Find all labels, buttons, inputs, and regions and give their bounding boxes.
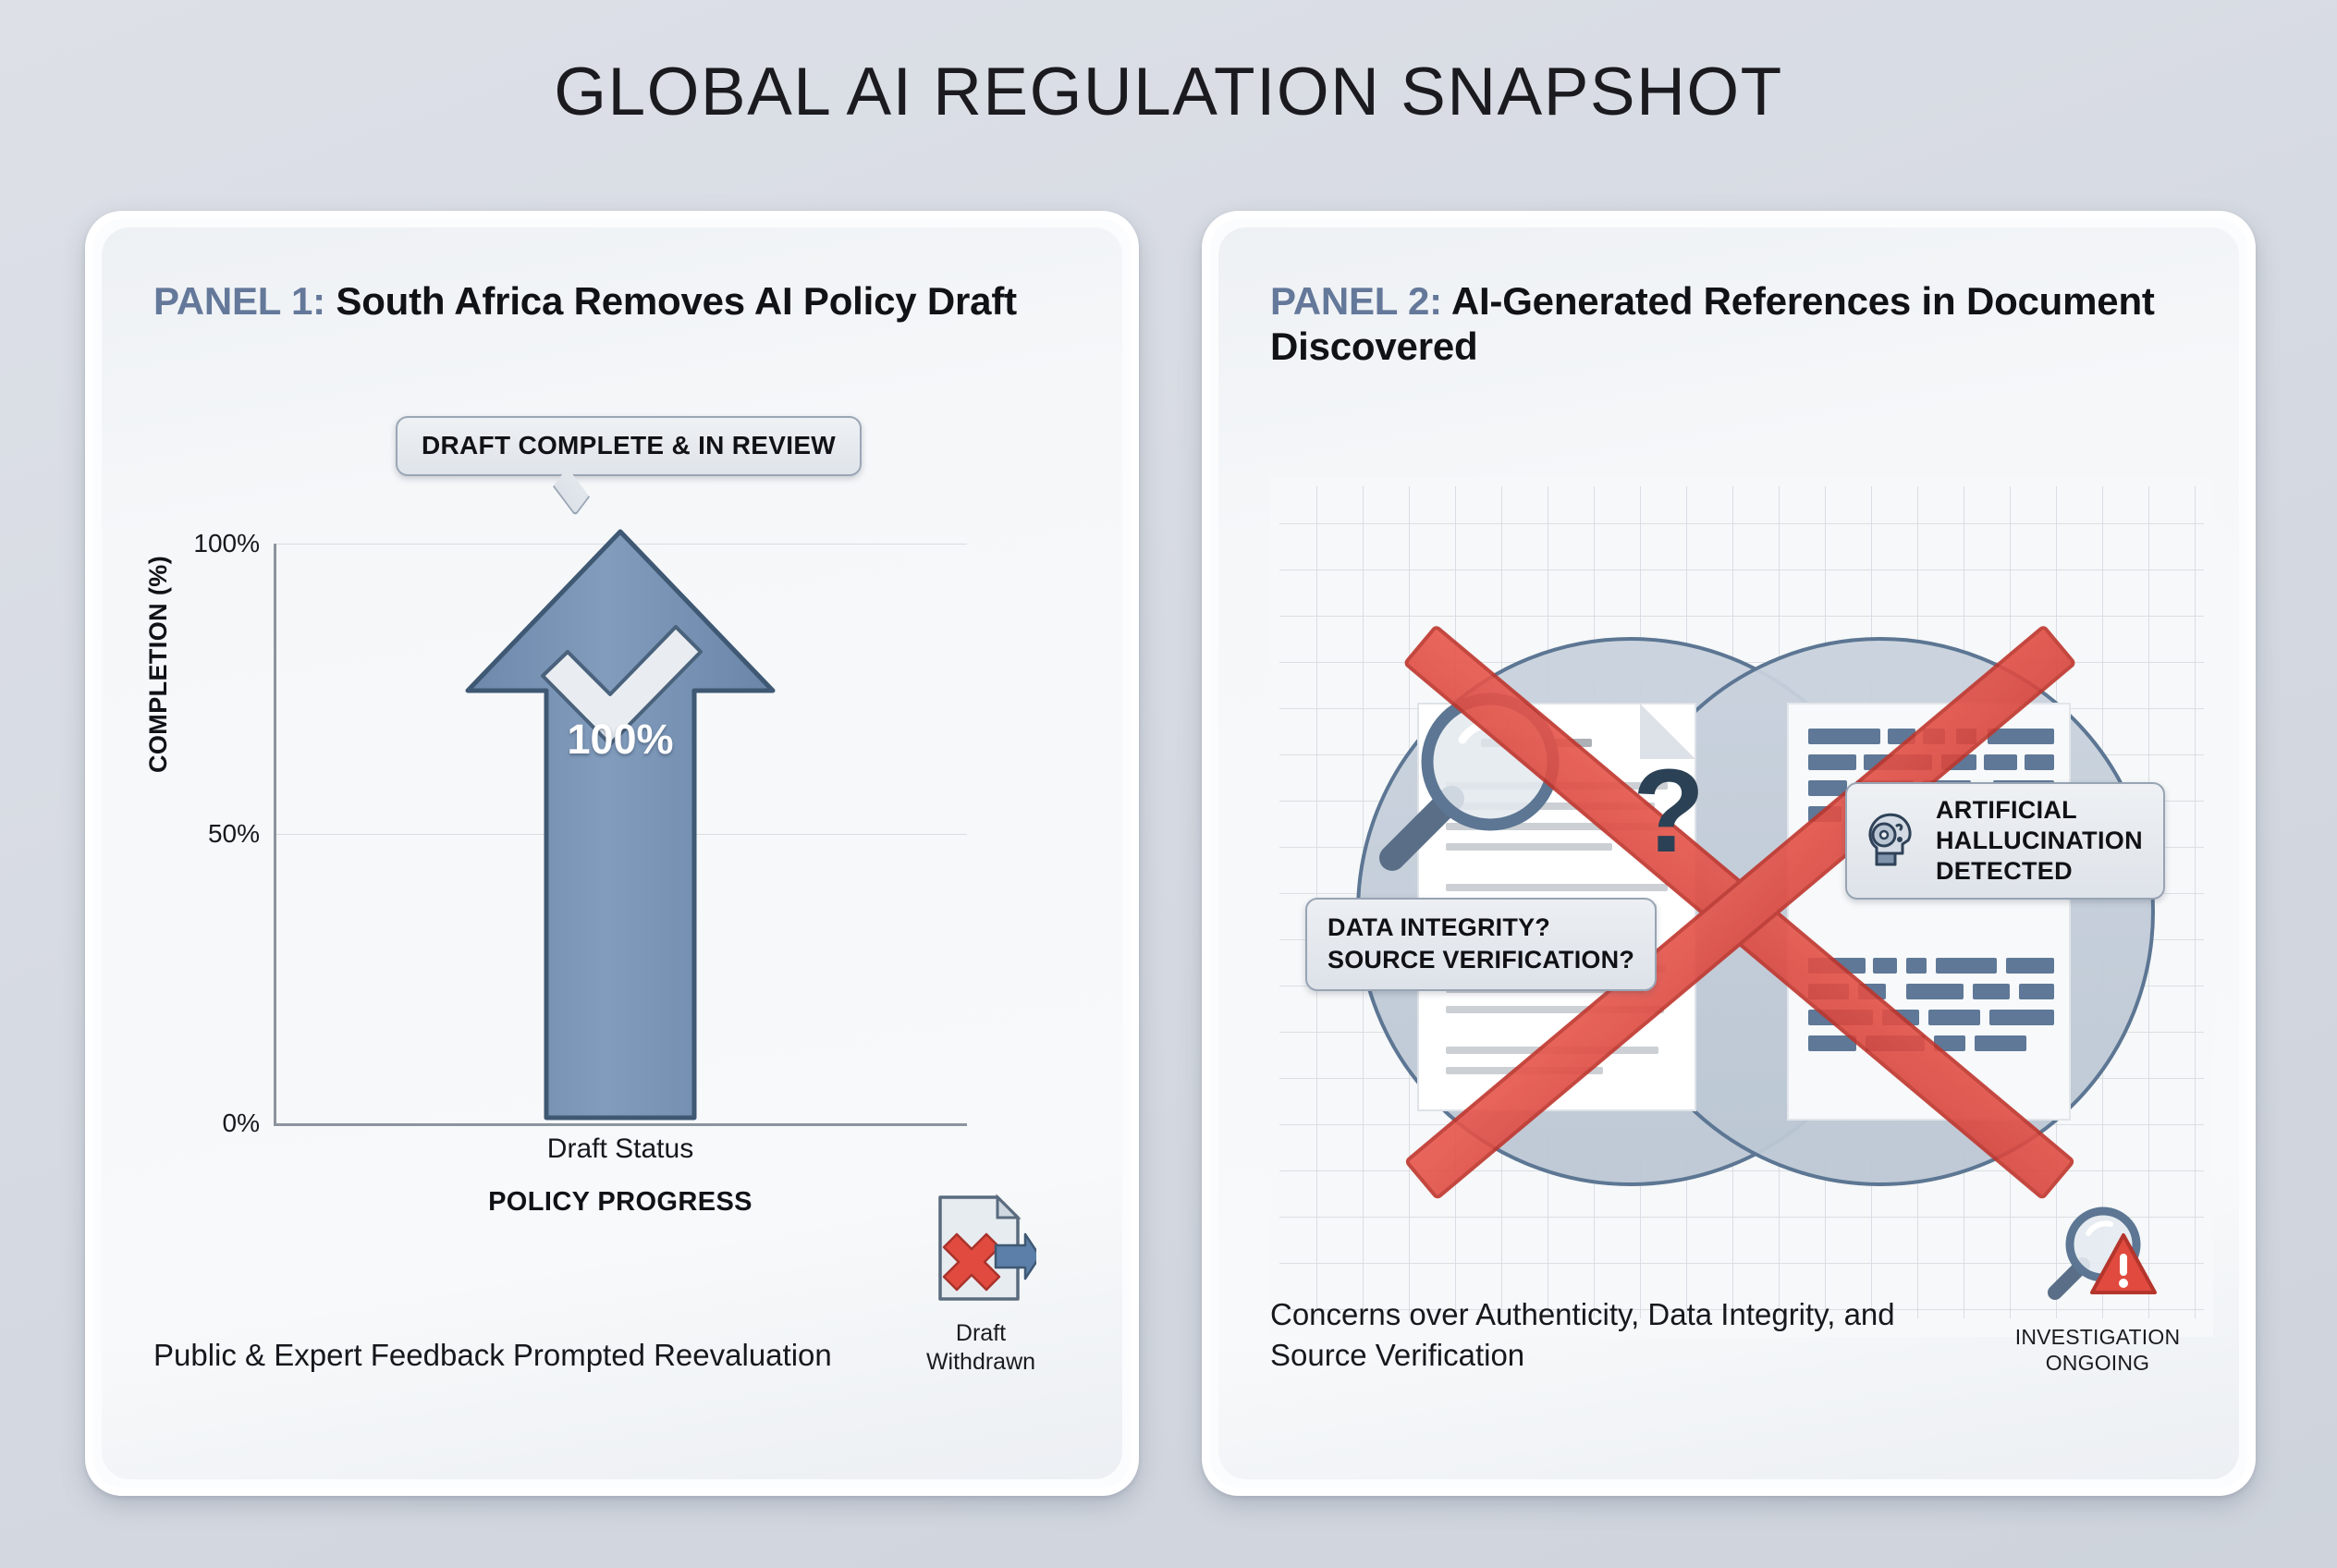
investigation-ongoing-badge: INVESTIGATION ONGOING [2001,1204,2195,1376]
investigation-line2: ONGOING [2015,1350,2181,1376]
y-tick-100: 100% [193,529,260,558]
data-integrity-line2: SOURCE VERIFICATION? [1328,944,1634,976]
ai-head-gear-icon [1862,809,1921,872]
draft-withdrawn-line2: Withdrawn [926,1348,1035,1377]
hallucination-line3: DETECTED [1936,856,2143,887]
panel-1-title: South Africa Removes AI Policy Draft [336,279,1017,323]
panel-2-footer-text: Concerns over Authenticity, Data Integri… [1270,1294,1976,1376]
hallucination-line2: HALLUCINATION [1936,826,2143,856]
panel-2-kicker: PANEL 2: [1270,279,1442,323]
y-axis-title: COMPLETION (%) [144,556,173,773]
panel-1-kicker: PANEL 1: [153,279,325,323]
investigation-line1: INVESTIGATION [2015,1324,2181,1350]
panel-2-body: PANEL 2: AI-Generated References in Docu… [1218,227,2239,1479]
panel-1-footer: Public & Expert Feedback Prompted Reeval… [153,1192,1078,1376]
hallucination-badge-text: ARTIFICIAL HALLUCINATION DETECTED [1936,795,2143,887]
panel-1-heading: PANEL 1: South Africa Removes AI Policy … [153,278,1078,324]
document-x-withdrawn-icon [925,1192,1036,1310]
x-tick-draft-status: Draft Status [274,1133,967,1165]
policy-progress-chart: DRAFT COMPLETE & IN REVIEW COMPLETION (%… [153,394,1096,1318]
chart-plot-area: 100% 50% 0% [274,544,967,1126]
y-tick-0: 0% [223,1109,260,1138]
gridline-100 [276,544,967,545]
panel-1: PANEL 1: South Africa Removes AI Policy … [85,211,1139,1496]
panel-1-body: PANEL 1: South Africa Removes AI Policy … [102,227,1122,1479]
draft-status-callout: DRAFT COMPLETE & IN REVIEW [396,416,862,476]
question-mark-icon: ? [1633,753,1705,871]
hallucination-badge: ARTIFICIAL HALLUCINATION DETECTED [1845,782,2165,900]
page-title: GLOBAL AI REGULATION SNAPSHOT [0,54,2337,130]
y-tick-50: 50% [208,819,260,849]
investigation-ongoing-label: INVESTIGATION ONGOING [2015,1324,2181,1376]
gridline-50 [276,834,967,835]
panel-1-footer-text: Public & Expert Feedback Prompted Reeval… [153,1335,832,1376]
magnifier-warning-icon [2037,1204,2159,1315]
hallucination-line1: ARTIFICIAL [1936,795,2143,826]
data-integrity-line1: DATA INTEGRITY? [1328,912,1634,944]
draft-withdrawn-label: Draft Withdrawn [926,1319,1035,1376]
panel-2-heading: PANEL 2: AI-Generated References in Docu… [1270,278,2195,369]
panel-2-footer: Concerns over Authenticity, Data Integri… [1270,1204,2195,1376]
data-integrity-callout: DATA INTEGRITY? SOURCE VERIFICATION? [1305,898,1657,991]
draft-withdrawn-badge: Draft Withdrawn [884,1192,1078,1376]
draft-withdrawn-line1: Draft [926,1319,1035,1348]
panel-2: PANEL 2: AI-Generated References in Docu… [1202,211,2256,1496]
